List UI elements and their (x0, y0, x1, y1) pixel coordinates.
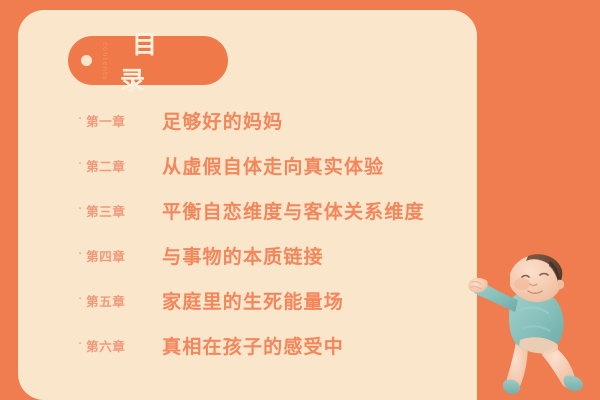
bullet-icon: · (78, 248, 82, 261)
toc-chapter-label: 第六章 (86, 336, 148, 355)
toc-item-5[interactable]: · 第五章 家庭里的生死能量场 (78, 278, 468, 323)
page-title: 目 录 (120, 36, 216, 85)
toc-chapter-title: 足够好的妈妈 (162, 107, 283, 134)
bullet-icon: · (78, 338, 82, 351)
toc-item-6[interactable]: · 第六章 真相在孩子的感受中 (78, 323, 468, 368)
baby-head (510, 254, 564, 302)
toc-item-3[interactable]: · 第三章 平衡自恋维度与客体关系维度 (78, 188, 468, 233)
toc-item-2[interactable]: · 第二章 从虚假自体走向真实体验 (78, 143, 468, 188)
toc-chapter-title: 与事物的本质链接 (162, 242, 324, 269)
toc-chapter-label: 第五章 (86, 291, 148, 310)
toc-chapter-label: 第三章 (86, 201, 148, 220)
slide-canvas: contents 目 录 · 第一章 足够好的妈妈 · 第二章 从虚假自体走向真… (0, 0, 600, 400)
table-of-contents-badge: contents 目 录 (68, 36, 228, 85)
bullet-icon: · (78, 113, 82, 126)
toc-chapter-label: 第一章 (86, 111, 148, 130)
bullet-icon: · (78, 203, 82, 216)
table-of-contents-list: · 第一章 足够好的妈妈 · 第二章 从虚假自体走向真实体验 · 第三章 平衡自… (78, 98, 468, 368)
toc-chapter-title: 真相在孩子的感受中 (162, 332, 344, 359)
toc-chapter-label: 第四章 (86, 246, 148, 265)
watercolor-baby-illustration (462, 248, 600, 400)
toc-item-4[interactable]: · 第四章 与事物的本质链接 (78, 233, 468, 278)
toc-chapter-title: 平衡自恋维度与客体关系维度 (162, 197, 425, 224)
toc-chapter-label: 第二章 (86, 156, 148, 175)
bullet-icon: · (78, 293, 82, 306)
badge-vertical-label: contents (98, 43, 112, 79)
baby-front-leg (503, 342, 528, 394)
hole-punch-icon (81, 55, 92, 66)
toc-chapter-title: 从虚假自体走向真实体验 (162, 152, 384, 179)
toc-chapter-title: 家庭里的生死能量场 (162, 287, 344, 314)
bullet-icon: · (78, 158, 82, 171)
toc-item-1[interactable]: · 第一章 足够好的妈妈 (78, 98, 468, 143)
